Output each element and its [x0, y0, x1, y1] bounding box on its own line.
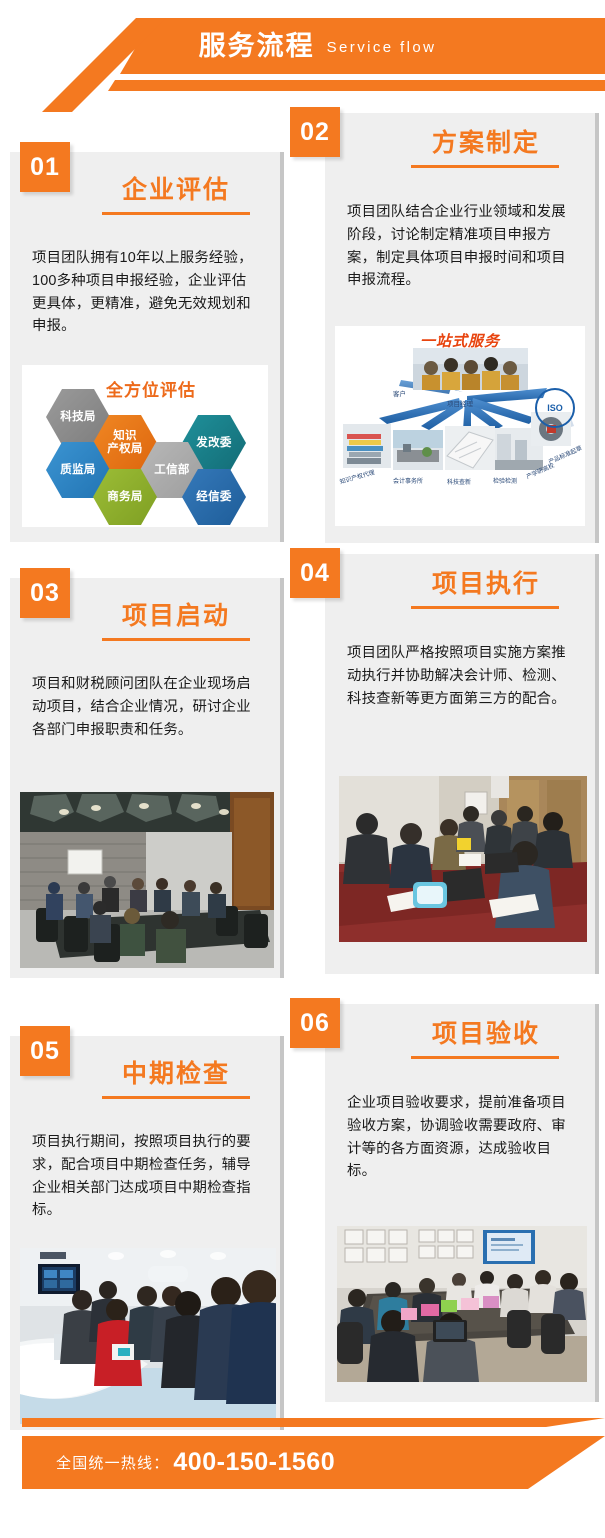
leaf-photo-accounting [393, 430, 443, 470]
hotline-number[interactable]: 400-150-1560 [173, 1448, 335, 1477]
hex-node-label: 经信委 [196, 491, 231, 504]
step-text-01: 项目团队拥有10年以上服务经验，100多种项目申报经验，企业评估更具体，更精准，… [32, 247, 260, 338]
hotline-label: 全国统一热线： [56, 1452, 169, 1473]
step-number-badge-02: 02 [290, 107, 340, 157]
step-title-04: 项目执行 [325, 570, 595, 599]
one-stop-diagram: 一站式服务 [335, 326, 585, 526]
step-card-02[interactable]: 02 方案制定 项目团队结合企业行业领域和发展阶段，讨论制定精准项目申报方案，制… [325, 113, 595, 543]
step-card-06[interactable]: 06 项目验收 企业项目验收要求，提前准备项目验收方案，协调验收需要政府、审计等… [325, 1004, 595, 1402]
hex-node-label: 发改委 [196, 437, 231, 450]
hex-node-label: 科技局 [60, 411, 95, 424]
step-title-block-02: 方案制定 [325, 129, 595, 168]
service-flow-poster: 服务流程 Service flow 01 企业评估 项目团队拥有10年以上服务经… [0, 0, 605, 1538]
title-underline-03 [102, 638, 250, 641]
hex-node-label: 商务局 [107, 491, 142, 504]
hex-diagram: 全方位评估 科技局 知识产权局 发改委 质监局 工信部 商务局 经信委 [22, 365, 268, 527]
page-footer: 全国统一热线： 400-150-1560 [0, 1418, 605, 1538]
leaf-label-testing: 检验检测 [493, 476, 517, 485]
step-text-06: 企业项目验收要求，提前准备项目验收方案，协调验收需要政府、审计等的各方面资源，达… [347, 1092, 575, 1183]
step-text-02: 项目团队结合企业行业领域和发展阶段，讨论制定精准项目申报方案，制定具体项目申报时… [347, 201, 575, 292]
steps-grid: 01 企业评估 项目团队拥有10年以上服务经验，100多种项目申报经验，企业评估… [0, 0, 605, 1538]
step-text-05: 项目执行期间，按照项目执行的要求，配合项目中期检查任务，辅导企业相关部门达成项目… [32, 1131, 260, 1222]
iso-seal-icon: ISO [535, 388, 575, 428]
title-underline-05 [102, 1096, 250, 1099]
step-text-04: 项目团队严格按照项目实施方案推动执行并协助解决会计师、检测、科技查新等更方面第三… [347, 642, 575, 710]
hex-diagram-title: 全方位评估 [106, 376, 196, 401]
step-number-badge-03: 03 [20, 568, 70, 618]
title-underline-01 [102, 212, 250, 215]
title-underline-06 [411, 1056, 559, 1059]
step-card-04[interactable]: 04 项目执行 项目团队严格按照项目实施方案推动执行并协助解决会计师、检测、科技… [325, 554, 595, 974]
hex-node-label: 工信部 [154, 464, 189, 477]
step-number-badge-06: 06 [290, 998, 340, 1048]
one-stop-node-xiangmu-jingli: 项目经理 [447, 398, 473, 408]
one-stop-team-photo [413, 348, 528, 390]
leaf-photo-search [445, 426, 495, 470]
step-number-badge-05: 05 [20, 1026, 70, 1076]
step-card-01[interactable]: 01 企业评估 项目团队拥有10年以上服务经验，100多种项目申报经验，企业评估… [10, 152, 280, 542]
step-number-badge-01: 01 [20, 142, 70, 192]
photo-boardroom [337, 1226, 587, 1382]
title-underline-04 [411, 606, 559, 609]
hex-node-label: 知识产权局 [107, 430, 142, 456]
photo-conference-room [20, 792, 274, 968]
step-title-02: 方案制定 [325, 129, 595, 158]
leaf-label-accounting: 会计事务所 [393, 476, 423, 485]
photo-lobby-group [20, 1248, 276, 1424]
footer-orange-strip [22, 1418, 605, 1427]
leaf-photo-ip [343, 424, 391, 468]
one-stop-node-kehu: 客户 [393, 388, 406, 398]
step-number-badge-04: 04 [290, 548, 340, 598]
step-card-05[interactable]: 05 中期检查 项目执行期间，按照项目执行的要求，配合项目中期检查任务，辅导企业… [10, 1036, 280, 1430]
hotline-group[interactable]: 全国统一热线： 400-150-1560 [56, 1436, 335, 1489]
step-card-03[interactable]: 03 项目启动 项目和财税顾问团队在企业现场启动项目，结合企业情况，研讨企业各部… [10, 578, 280, 978]
title-underline-02 [411, 165, 559, 168]
step-title-06: 项目验收 [325, 1020, 595, 1049]
hex-node-label: 质监局 [60, 464, 95, 477]
step-text-03: 项目和财税顾问团队在企业现场启动项目，结合企业情况，研讨企业各部门申报职责和任务… [32, 673, 260, 741]
step-title-block-04: 项目执行 [325, 570, 595, 609]
photo-meeting-laptops [339, 776, 587, 942]
step-title-block-06: 项目验收 [325, 1020, 595, 1059]
leaf-label-search: 科技查新 [447, 477, 471, 486]
